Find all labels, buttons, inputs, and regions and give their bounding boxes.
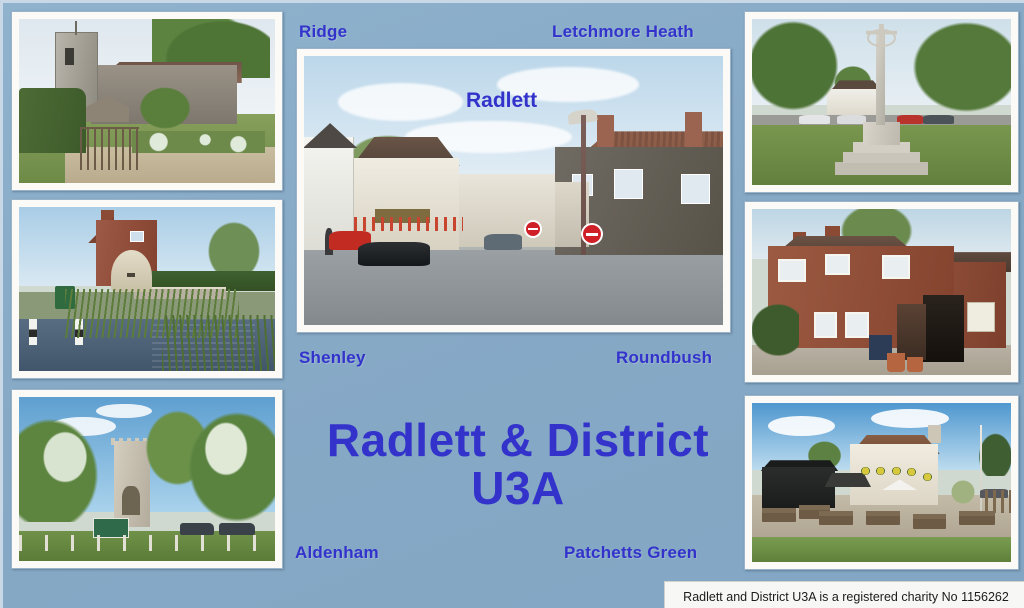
parked-car	[484, 234, 522, 250]
tree	[752, 19, 840, 112]
fence-posts	[19, 535, 275, 551]
photo-aldenham-image	[19, 397, 275, 561]
pub-door	[897, 304, 925, 360]
canopy	[825, 473, 872, 487]
bollard	[29, 319, 37, 345]
black-barn	[762, 467, 835, 508]
cross-ring	[867, 29, 895, 47]
bunting	[354, 217, 463, 230]
memorial-plinth	[863, 122, 899, 145]
parked-car	[897, 115, 923, 123]
page-title: Radlett & District U3A	[293, 416, 743, 513]
collage-page: THE ROUND BUSH	[0, 0, 1024, 608]
window	[845, 312, 868, 339]
bush	[137, 85, 193, 131]
charity-footer: Radlett and District U3A is a registered…	[664, 581, 1024, 608]
wildflowers	[132, 131, 265, 154]
photo-letchmore-heath-image	[752, 19, 1011, 185]
photo-aldenham[interactable]	[11, 389, 283, 569]
label-aldenham: Aldenham	[295, 543, 379, 563]
tree	[913, 19, 1011, 112]
picnic-table	[913, 514, 947, 528]
photo-patchetts-green-image	[752, 403, 1011, 562]
photo-shenley-image	[19, 207, 275, 371]
picnic-table	[866, 511, 900, 525]
reeds	[162, 315, 275, 371]
chimney	[685, 112, 702, 150]
plant-pot	[907, 357, 923, 372]
page-title-line2: U3A	[293, 464, 743, 512]
photo-roundbush[interactable]: THE ROUND BUSH	[744, 201, 1019, 383]
window	[825, 254, 851, 276]
label-shenley: Shenley	[299, 348, 366, 368]
photo-ridge-image	[19, 19, 275, 183]
parked-car	[837, 115, 865, 123]
flagpole	[980, 425, 983, 511]
cloud	[768, 416, 835, 437]
blossom-tree	[19, 404, 111, 522]
memorial-step	[835, 162, 928, 175]
hanging-basket	[892, 467, 901, 475]
label-patchetts-green: Patchetts Green	[564, 543, 697, 563]
parked-car	[180, 523, 213, 534]
tree	[201, 214, 268, 276]
pub-doorway	[923, 295, 964, 361]
flagpole	[75, 21, 77, 36]
black-car	[358, 242, 429, 266]
hedge	[752, 300, 799, 360]
blossom-tree	[178, 400, 275, 521]
label-letchmore-heath: Letchmore Heath	[552, 22, 694, 42]
chimney	[928, 425, 941, 442]
window	[882, 255, 910, 278]
picnic-table	[959, 511, 995, 525]
menu-board	[967, 302, 995, 332]
label-ridge: Ridge	[299, 22, 347, 42]
fence	[985, 490, 1011, 512]
parked-car	[799, 115, 830, 123]
grass	[752, 537, 1011, 562]
topiary-bush	[949, 479, 977, 504]
picnic-table	[762, 508, 796, 522]
gate	[80, 127, 139, 170]
parked-car	[219, 523, 255, 534]
chimney	[597, 115, 614, 150]
hanging-basket	[861, 467, 870, 475]
cloud	[338, 83, 464, 121]
hedge	[19, 88, 86, 154]
photo-ridge[interactable]	[11, 11, 283, 191]
picnic-table	[819, 511, 853, 525]
window	[614, 169, 643, 199]
photo-roundbush-image: THE ROUND BUSH	[752, 209, 1011, 375]
label-roundbush: Roundbush	[616, 348, 712, 368]
photo-letchmore-heath[interactable]	[744, 11, 1019, 193]
plant-pot	[887, 353, 905, 371]
window	[778, 259, 806, 282]
hanging-basket	[876, 467, 885, 475]
photo-shenley[interactable]	[11, 199, 283, 379]
memorial-step	[843, 152, 921, 164]
photo-patchetts-green[interactable]	[744, 395, 1019, 570]
parked-car	[923, 115, 954, 123]
page-title-line1: Radlett & District	[327, 414, 709, 466]
hanging-basket	[923, 473, 932, 481]
overlay-label-radlett: Radlett	[466, 89, 537, 113]
window	[681, 174, 710, 204]
window	[814, 312, 837, 339]
